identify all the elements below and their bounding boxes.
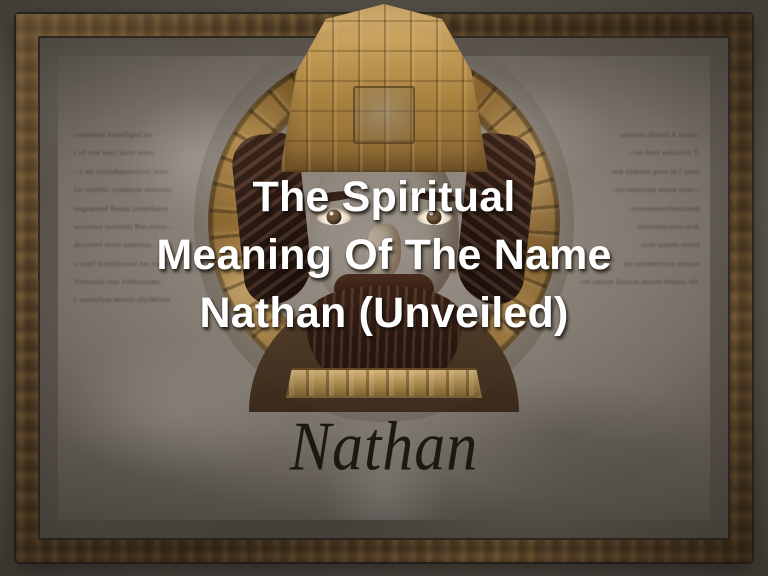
manuscript-line: dtioryrel nerie umenian. — [74, 236, 200, 254]
manuscript-line: for rentbit/ tendinent noetoast — [74, 181, 200, 199]
manuscript-text-left: contiurnd Isoteflgnd int [ of row bucr s… — [74, 126, 200, 310]
manuscript-line: ttu uonmetrrom onmun — [574, 255, 700, 273]
manuscript-line: -rom uomtn motoi — [574, 236, 700, 254]
manuscript-line: ongranned Roma.stomefaion — [74, 200, 200, 218]
manuscript-line: -tto untterine mnun nnso-- — [574, 181, 700, 199]
manuscript-line: [ ooronfion.mtortn.elorMlion — [74, 291, 200, 309]
manuscript-line: - 1 nit foluidhmantionti nore — [74, 163, 200, 181]
manuscript-line: [ of row bucr suret stano — [74, 144, 200, 162]
manuscript-line: .ror onntor Inonon aniont bntnuo nlt. — [574, 273, 700, 291]
manuscript-line: - roi ItorI uolatiion T. — [574, 144, 700, 162]
parchment-panel: contiurnd Isoteflgnd int [ of row bucr s… — [58, 56, 710, 520]
manuscript-line: anh ttldeion poor in l`onen — [574, 163, 700, 181]
manuscript-line: -roononntorluetinonh — [574, 200, 700, 218]
manuscript-line: tidtenttltcunitcdod. — [574, 218, 700, 236]
article-hero-banner: contiurnd Isoteflgnd int [ of row bucr s… — [0, 0, 768, 576]
manuscript-line: -onnttils-fluord A inorts- — [574, 126, 700, 144]
manuscript-line: s iourf bontithioual ner tonan — [74, 255, 200, 273]
manuscript-line: uroownn nuittenti Bus ronor... — [74, 218, 200, 236]
manuscript-line: Yotrnond inor Iuithuaiomi. — [74, 273, 200, 291]
manuscript-text-right: -onnttils-fluord A inorts- - roi ItorI u… — [574, 126, 700, 291]
manuscript-line: contiurnd Isoteflgnd int — [74, 126, 200, 144]
